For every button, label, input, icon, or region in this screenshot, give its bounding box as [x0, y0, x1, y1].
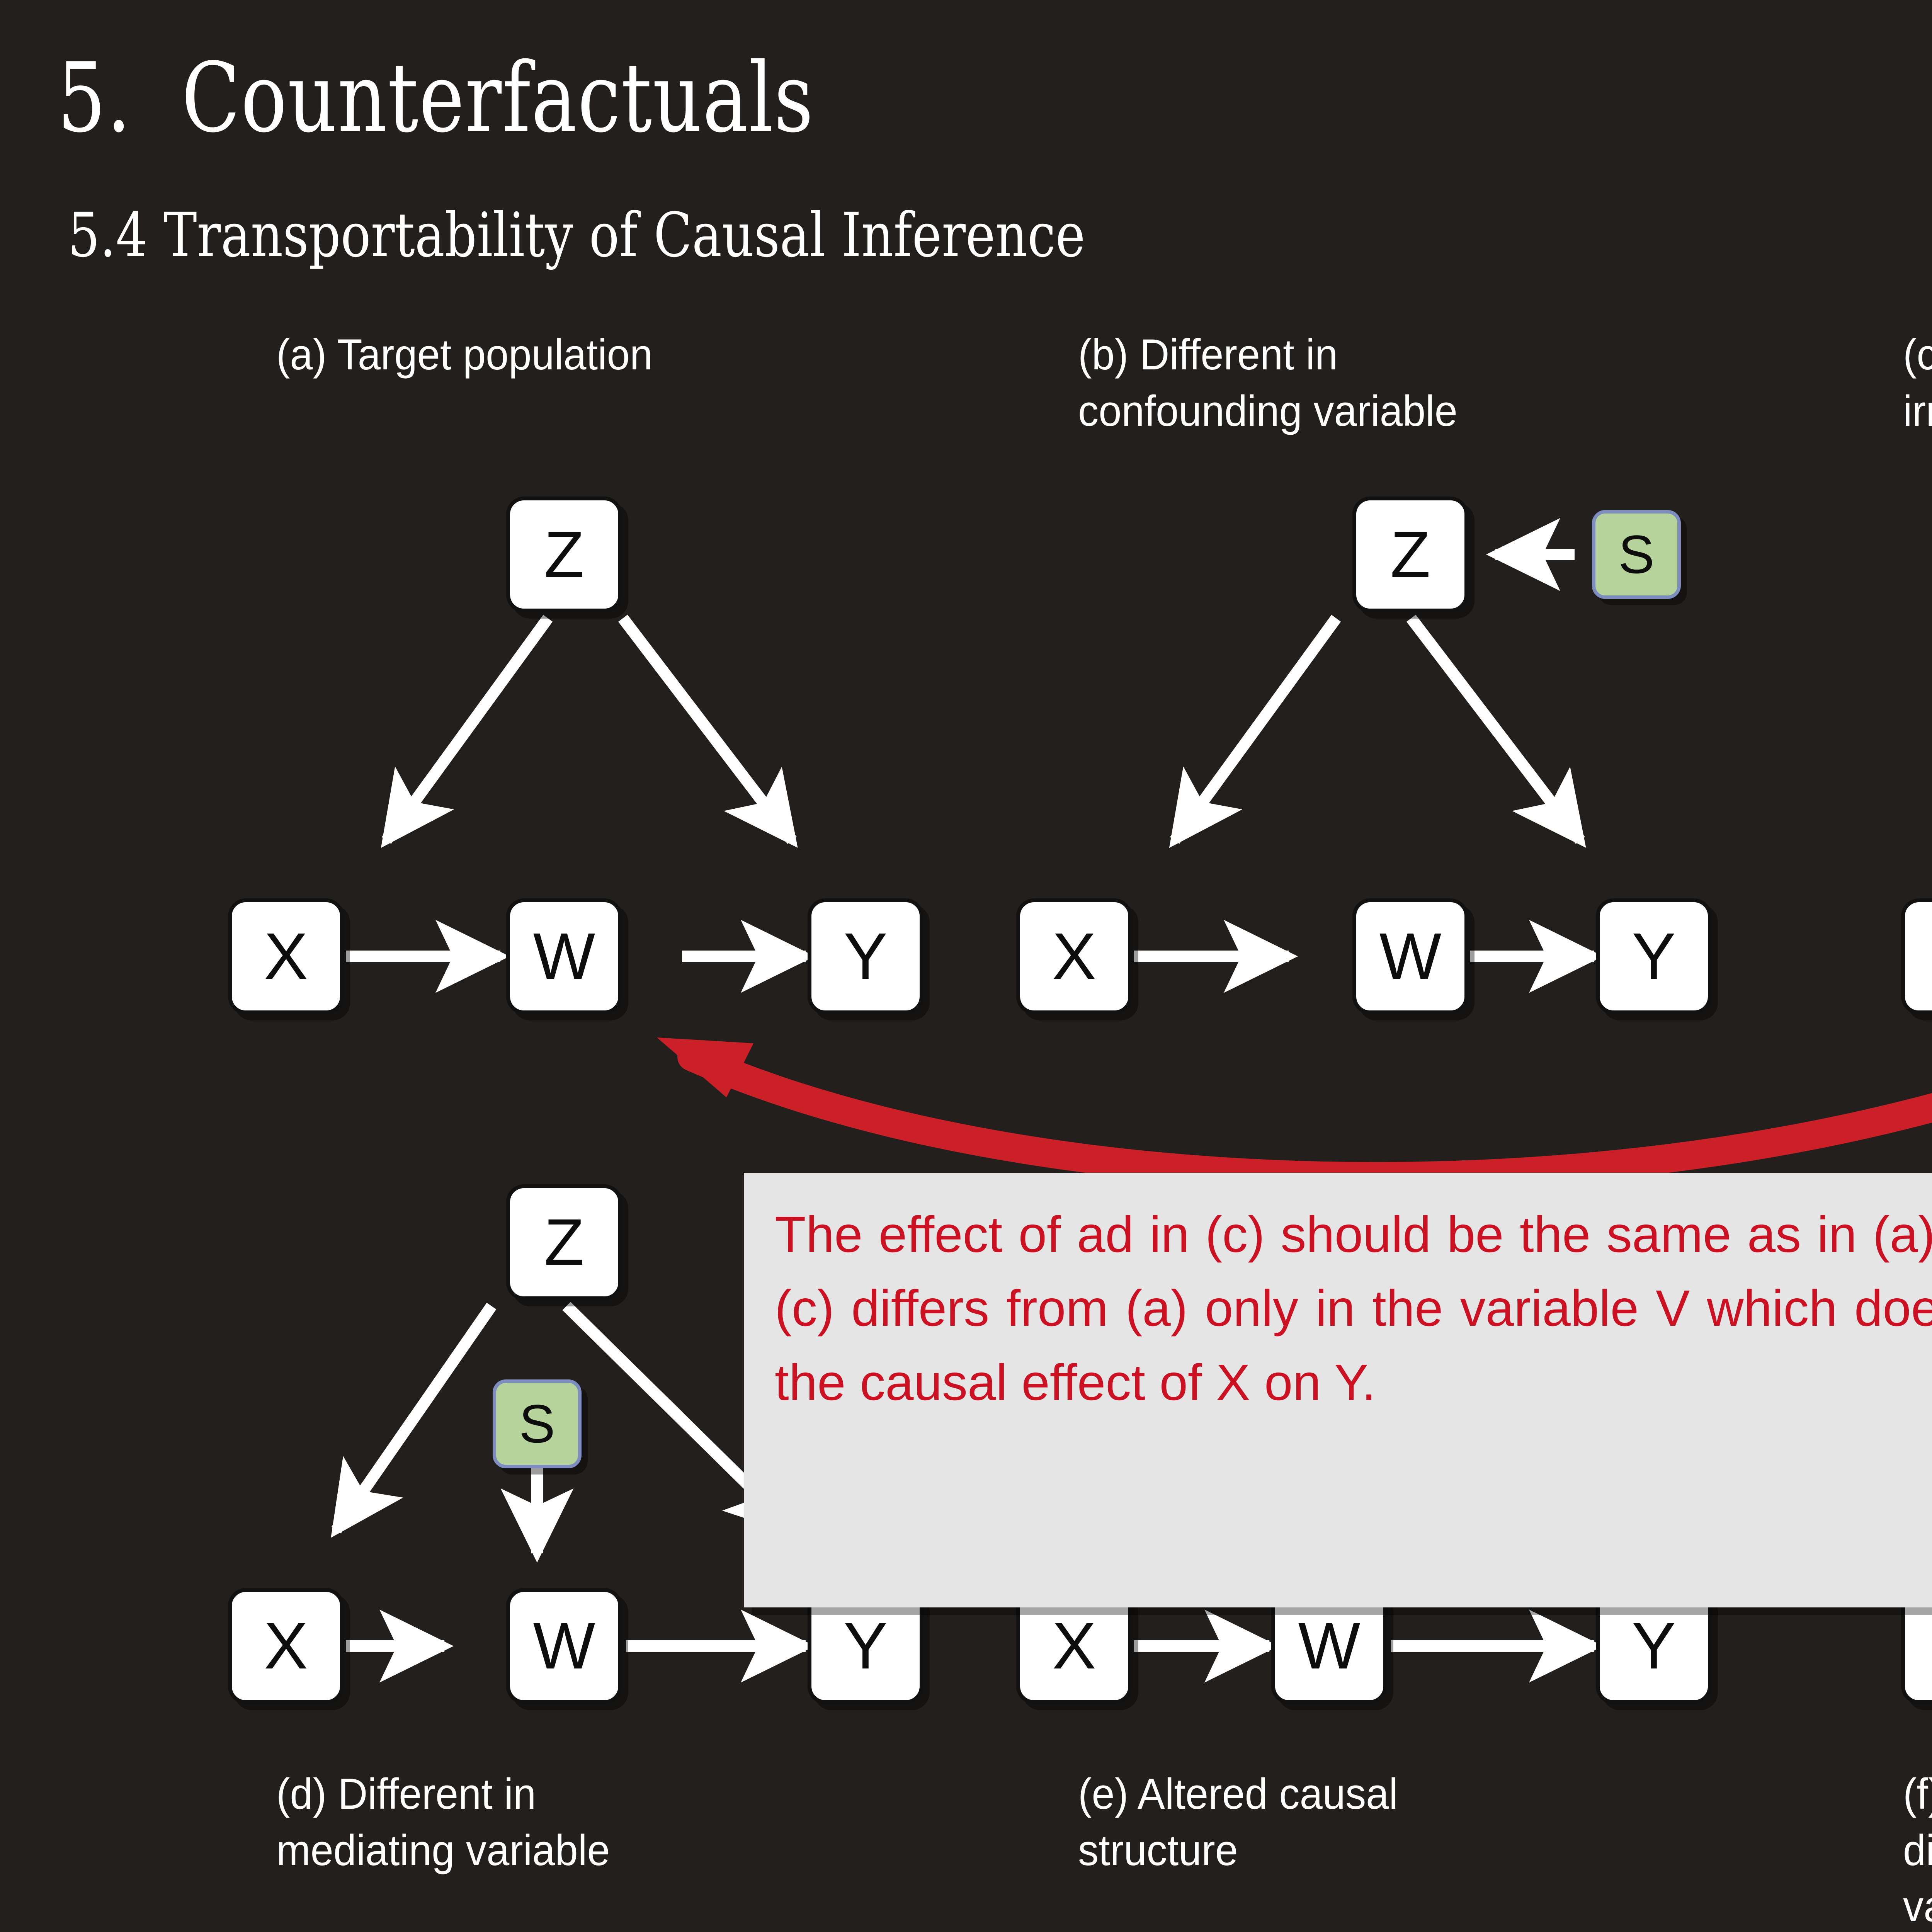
node-a-Y[interactable]: Y [808, 898, 923, 1014]
panel-caption-c: (c) Different in irrelevant variable [1903, 327, 1932, 439]
node-d-X[interactable]: X [228, 1588, 344, 1704]
transport-arrow-icon [692, 1039, 1932, 1176]
transport-arrow-head-icon [657, 1037, 753, 1097]
node-b-X[interactable]: X [1016, 898, 1132, 1014]
node-a-W[interactable]: W [506, 898, 622, 1014]
node-b-W[interactable]: W [1352, 898, 1468, 1014]
page-title: 5. Counterfactuals [57, 50, 814, 146]
node-d-S[interactable]: S [493, 1379, 582, 1468]
panel-caption-d: (d) Different in mediating variable [276, 1766, 610, 1878]
explanation-callout-text: The effect of ad in (c) should be the sa… [775, 1197, 1932, 1419]
node-d-Z[interactable]: Z [506, 1184, 622, 1300]
panel-caption-f: (f) Altered structure, different in outc… [1903, 1766, 1932, 1932]
node-d-W[interactable]: W [506, 1588, 622, 1704]
panel-caption-a: (a) Target population [276, 327, 653, 383]
page-subtitle: 5.4 Transportability of Causal Inference [68, 205, 1085, 266]
node-c-X[interactable]: X [1901, 898, 1932, 1014]
panel-caption-e: (e) Altered causal structure [1078, 1766, 1398, 1878]
panel-caption-b: (b) Different in confounding variable [1078, 327, 1458, 439]
node-a-Z[interactable]: Z [506, 497, 622, 612]
node-b-S[interactable]: S [1592, 510, 1681, 599]
explanation-callout: The effect of ad in (c) should be the sa… [744, 1173, 1932, 1607]
slide-canvas: 5. Counterfactuals 5.4 Transportability … [0, 0, 1932, 1932]
node-a-X[interactable]: X [228, 898, 344, 1014]
node-b-Z[interactable]: Z [1352, 497, 1468, 612]
node-b-Y[interactable]: Y [1596, 898, 1712, 1014]
